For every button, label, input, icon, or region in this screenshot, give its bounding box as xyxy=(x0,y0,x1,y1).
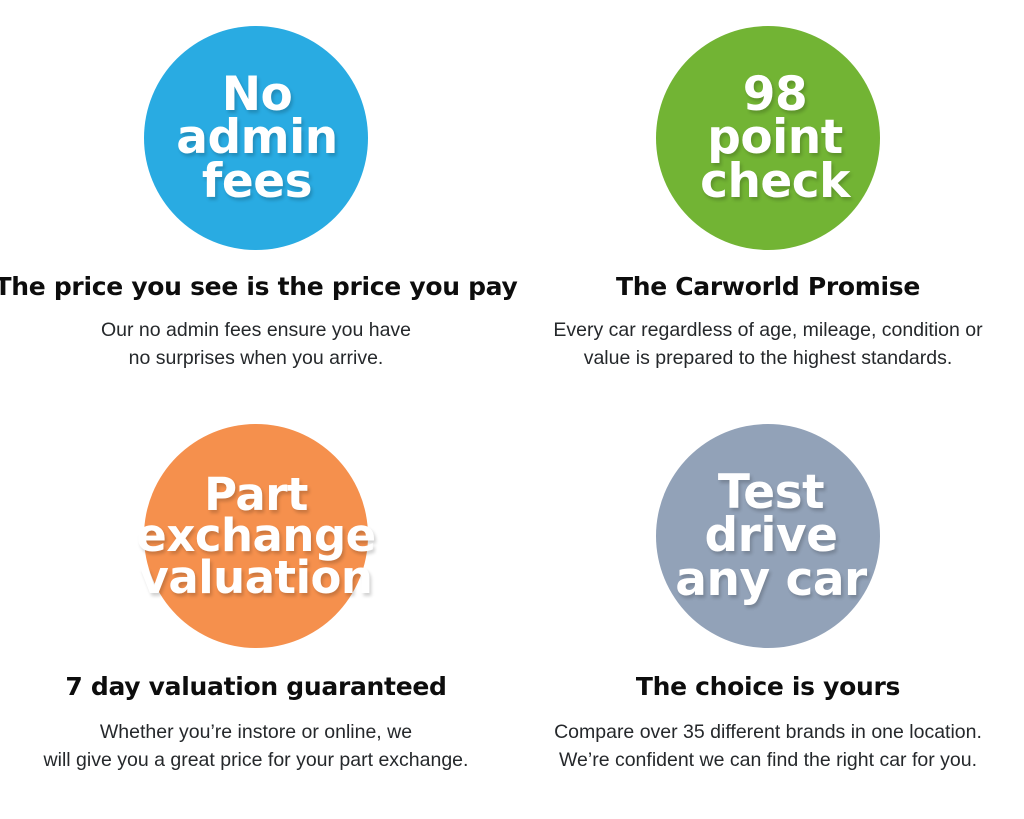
badge-line-3: fees xyxy=(176,160,337,203)
badge-circle-no-admin-fees: No admin fees xyxy=(144,26,368,250)
usp-grid: No admin fees The price you see is the p… xyxy=(0,0,1024,819)
badge-circle-test-drive-any-car: Test drive any car xyxy=(656,424,880,648)
usp-heading-no-admin-fees: The price you see is the price you pay xyxy=(0,272,523,301)
usp-card-no-admin-fees: No admin fees The price you see is the p… xyxy=(0,0,512,409)
badge-line-3: check xyxy=(700,160,850,203)
badge-circle-part-exchange-valuation: Part exchange valuation xyxy=(144,424,368,648)
badge-line-3: valuation xyxy=(136,557,375,598)
usp-heading-part-exchange-valuation: 7 day valuation guaranteed xyxy=(59,672,452,701)
badge-circle-98-point-check: 98 point check xyxy=(656,26,880,250)
usp-body-98-point-check: Every car regardless of age, mileage, co… xyxy=(545,317,990,372)
usp-body-part-exchange-valuation: Whether you’re instore or online, we wil… xyxy=(36,719,477,774)
badge-text-test-drive-any-car: Test drive any car xyxy=(675,471,866,601)
usp-heading-98-point-check: The Carworld Promise xyxy=(610,272,926,301)
usp-body-no-admin-fees: Our no admin fees ensure you have no sur… xyxy=(93,317,419,372)
usp-heading-test-drive-any-car: The choice is yours xyxy=(630,672,906,701)
badge-text-no-admin-fees: No admin fees xyxy=(176,73,337,203)
badge-text-part-exchange-valuation: Part exchange valuation xyxy=(136,474,375,598)
usp-card-test-drive-any-car: Test drive any car The choice is yours C… xyxy=(512,409,1024,819)
badge-line-3: any car xyxy=(675,558,866,601)
usp-body-test-drive-any-car: Compare over 35 different brands in one … xyxy=(546,719,990,774)
usp-card-98-point-check: 98 point check The Carworld Promise Ever… xyxy=(512,0,1024,409)
usp-card-part-exchange-valuation: Part exchange valuation 7 day valuation … xyxy=(0,409,512,819)
badge-text-98-point-check: 98 point check xyxy=(700,73,850,203)
